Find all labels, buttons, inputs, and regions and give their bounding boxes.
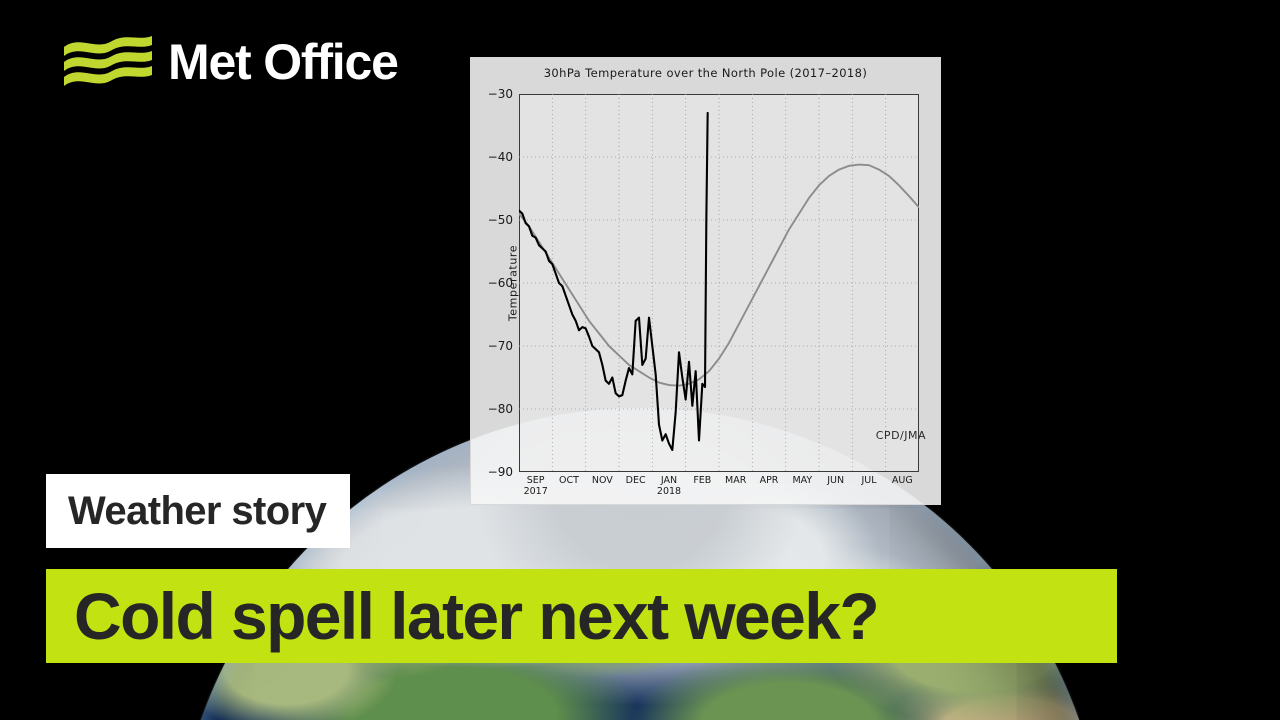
plot-wrapper: Temperature −30−40−50−60−70−80−90 SEP201… [519, 94, 919, 472]
chart-credit: CPD/JMA [876, 429, 926, 442]
brand-wordmark: Met Office [168, 37, 398, 87]
x-tick-label: NOV [592, 476, 613, 487]
chart-card: 30hPa Temperature over the North Pole (2… [470, 57, 941, 505]
series-line [519, 165, 919, 386]
x-tick-label: JUL [861, 476, 876, 487]
x-tick-label: OCT [559, 476, 579, 487]
met-office-logo: Met Office [62, 33, 398, 91]
y-tick-label: −50 [488, 213, 513, 227]
x-tick-label: APR [760, 476, 779, 487]
x-tick-label: SEP2017 [524, 476, 548, 498]
headline-label: Cold spell later next week? [74, 583, 878, 649]
y-tick-label: −70 [488, 339, 513, 353]
x-tick-label: DEC [626, 476, 646, 487]
x-tick-year: 2017 [524, 487, 548, 498]
series-line [519, 113, 708, 450]
x-tick-label: MAY [792, 476, 812, 487]
x-tick-label: MAR [725, 476, 746, 487]
chart-title: 30hPa Temperature over the North Pole (2… [471, 66, 940, 80]
y-tick-label: −60 [488, 276, 513, 290]
y-tick-label: −90 [488, 465, 513, 479]
chart-svg [519, 94, 919, 472]
x-tick-year: 2018 [657, 487, 681, 498]
y-tick-label: −80 [488, 402, 513, 416]
gridlines [519, 94, 919, 472]
x-tick-label: FEB [693, 476, 711, 487]
x-tick-label: JUN [827, 476, 844, 487]
x-tick-label: AUG [892, 476, 913, 487]
y-tick-label: −40 [488, 150, 513, 164]
kicker-label: Weather story [68, 491, 326, 531]
y-tick-label: −30 [488, 87, 513, 101]
data-series [519, 113, 919, 450]
met-office-waves-icon [62, 33, 154, 91]
x-tick-label: JAN2018 [657, 476, 681, 498]
headline-banner: Cold spell later next week? [46, 569, 1117, 663]
kicker-banner: Weather story [46, 474, 350, 548]
